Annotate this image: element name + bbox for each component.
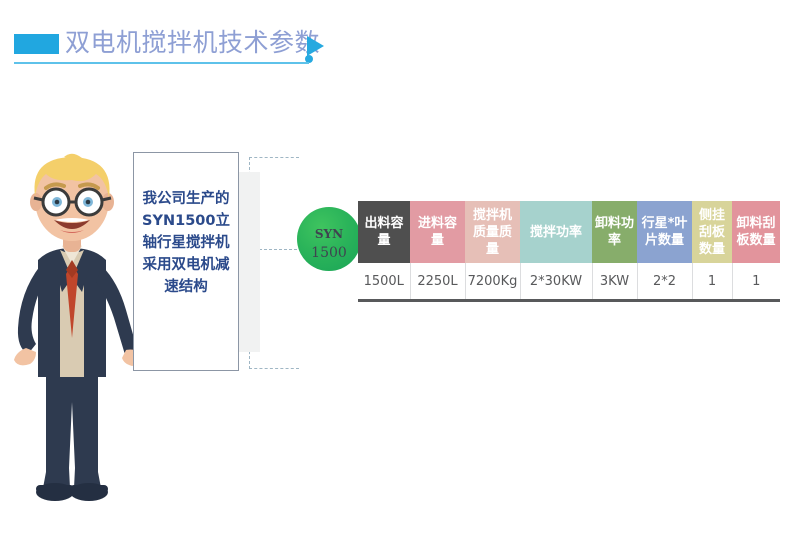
spec-table-cell-4: 3KW: [592, 263, 637, 301]
spec-table-head: 出料容量进料容量搅拌机质量质量搅拌功率卸料功率行星*叶片数量侧挂刮板数量卸料刮板…: [358, 201, 780, 263]
spec-table-cell-3: 2*30KW: [520, 263, 592, 301]
spec-table-cell-7: 1: [732, 263, 780, 301]
title-accent-swatch: [14, 34, 59, 54]
callout-connector-bottom: [249, 368, 299, 369]
presenter-illustration: [2, 152, 142, 522]
spec-table-header-cell-6: 侧挂刮板数量: [692, 201, 732, 263]
title-underline: [14, 62, 309, 64]
spec-table-header-cell-2: 搅拌机质量质量: [465, 201, 520, 263]
model-badge-prefix: SYN: [297, 227, 361, 241]
spec-table-body: 1500L2250L7200Kg2*30KW3KW2*211: [358, 263, 780, 301]
spec-table-header-cell-1: 进料容量: [410, 201, 465, 263]
spec-table-cell-5: 2*2: [637, 263, 692, 301]
model-badge-number: 1500: [297, 245, 361, 261]
callout-connector-top: [249, 157, 299, 158]
spec-table-header-cell-7: 卸料刮板数量: [732, 201, 780, 263]
play-triangle-icon: [307, 36, 324, 56]
table-row: 1500L2250L7200Kg2*30KW3KW2*211: [358, 263, 780, 301]
spec-table-header-cell-3: 搅拌功率: [520, 201, 592, 263]
spec-table-cell-2: 7200Kg: [465, 263, 520, 301]
spec-table-header-row: 出料容量进料容量搅拌机质量质量搅拌功率卸料功率行星*叶片数量侧挂刮板数量卸料刮板…: [358, 201, 780, 263]
page-title: 双电机搅拌机技术参数: [65, 27, 320, 59]
page-title-block: 双电机搅拌机技术参数: [14, 30, 334, 68]
spec-table-cell-6: 1: [692, 263, 732, 301]
spec-table-cell-0: 1500L: [358, 263, 410, 301]
spec-table-header-cell-5: 行星*叶片数量: [637, 201, 692, 263]
spec-table: 出料容量进料容量搅拌机质量质量搅拌功率卸料功率行星*叶片数量侧挂刮板数量卸料刮板…: [358, 201, 780, 302]
callout-text: 我公司生产的SYN1500立轴行星搅拌机采用双电机减速结构: [138, 188, 234, 298]
spec-table-cell-1: 2250L: [410, 263, 465, 301]
spec-table-header-cell-4: 卸料功率: [592, 201, 637, 263]
spec-table-header-cell-0: 出料容量: [358, 201, 410, 263]
